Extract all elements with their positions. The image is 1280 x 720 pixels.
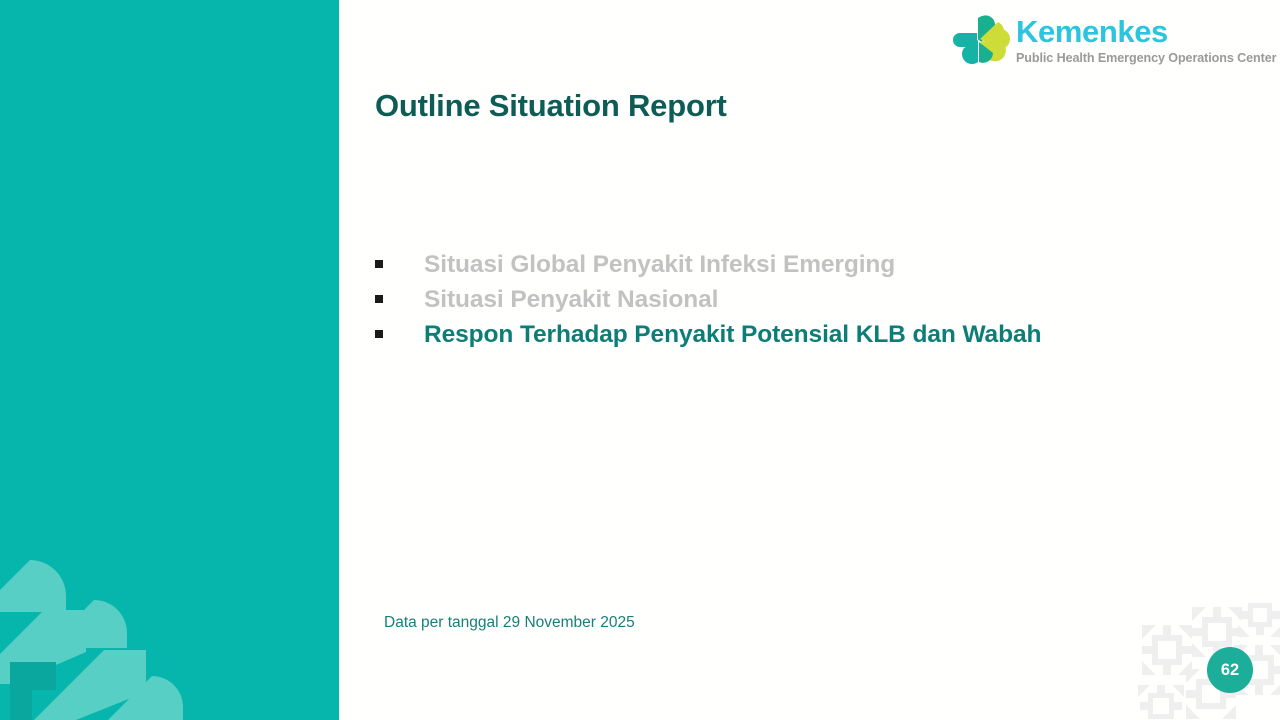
square-bullet-icon xyxy=(375,330,383,338)
logo-wordmark: Kemenkes xyxy=(1016,16,1276,47)
logo-text-block: Kemenkes Public Health Emergency Operati… xyxy=(1016,16,1276,65)
outline-item-3[interactable]: Respon Terhadap Penyakit Potensial KLB d… xyxy=(375,321,1205,356)
kemenkes-logo: Kemenkes Public Health Emergency Operati… xyxy=(948,6,1272,74)
outline-list: Situasi Global Penyakit Infeksi Emerging… xyxy=(375,251,1205,356)
square-bullet-icon xyxy=(375,295,383,303)
left-sidebar xyxy=(0,0,339,720)
page-number-badge: 62 xyxy=(1207,647,1253,693)
sidebar-petal-ornament xyxy=(0,540,200,720)
page-number: 62 xyxy=(1221,662,1239,679)
slide-root: Kemenkes Public Health Emergency Operati… xyxy=(0,0,1280,720)
kemenkes-flower-logo-icon xyxy=(948,9,1010,71)
outline-item-label: Respon Terhadap Penyakit Potensial KLB d… xyxy=(424,321,1041,349)
outline-item-label: Situasi Penyakit Nasional xyxy=(424,286,718,314)
outline-item-2[interactable]: Situasi Penyakit Nasional xyxy=(375,286,1205,321)
footer-date-note: Data per tanggal 29 November 2025 xyxy=(384,614,635,632)
square-bullet-icon xyxy=(375,260,383,268)
outline-item-label: Situasi Global Penyakit Infeksi Emerging xyxy=(424,251,895,279)
batik-corner-ornament-icon xyxy=(1130,585,1280,720)
outline-item-1[interactable]: Situasi Global Penyakit Infeksi Emerging xyxy=(375,251,1205,286)
logo-subtitle: Public Health Emergency Operations Cente… xyxy=(1016,52,1276,65)
page-title: Outline Situation Report xyxy=(375,88,727,124)
